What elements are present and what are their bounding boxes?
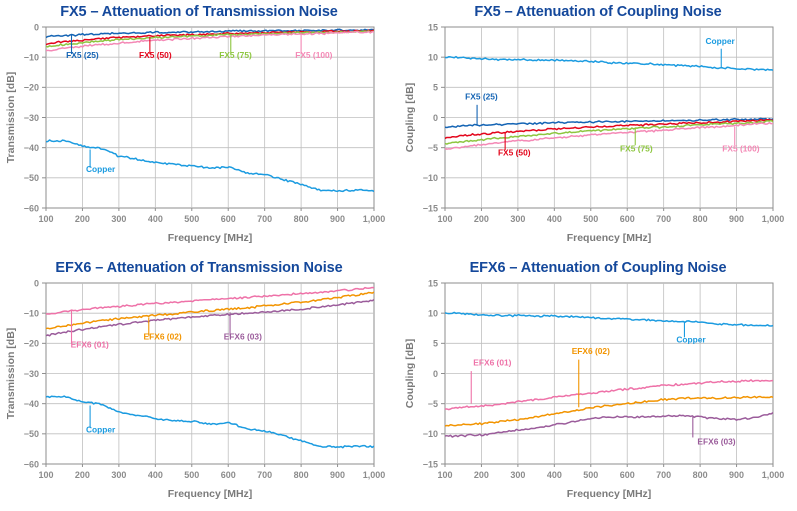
y-tick-label: −15	[423, 459, 438, 469]
x-tick-label: 200	[75, 214, 90, 224]
x-tick-label: 900	[729, 470, 744, 480]
series-label: FX5 (75)	[219, 50, 252, 60]
y-tick-label: 10	[428, 309, 438, 319]
y-axis-label: Transmission [dB]	[5, 72, 17, 164]
x-tick-label: 600	[221, 470, 236, 480]
y-axis-ticks: 0−10−20−30−40−50−60	[24, 278, 46, 469]
y-tick-label: 5	[433, 339, 438, 349]
y-tick-label: −60	[24, 459, 39, 469]
y-axis-label: Coupling [dB]	[404, 83, 416, 152]
x-tick-label: 500	[583, 470, 598, 480]
x-tick-label: 700	[257, 214, 272, 224]
y-tick-label: −20	[24, 83, 39, 93]
x-tick-label: 300	[510, 470, 525, 480]
x-axis-ticks: 1002003004005006007008009001,000	[38, 208, 385, 224]
chart-svg: 151050−5−10−1510020030040050060070080090…	[399, 0, 797, 255]
y-axis-ticks: 0−10−20−30−40−50−60	[24, 22, 46, 213]
chart-svg: 0−10−20−30−40−50−60100200300400500600700…	[0, 0, 398, 255]
chart-panel-efx6-transmission: EFX6 – Attenuation of Transmission Noise…	[0, 256, 398, 511]
x-tick-label: 200	[474, 214, 489, 224]
x-tick-label: 500	[583, 214, 598, 224]
x-tick-label: 200	[474, 470, 489, 480]
series-label: FX5 (75)	[620, 143, 653, 153]
series-label: Copper	[86, 425, 116, 435]
y-tick-label: −40	[24, 143, 39, 153]
plot-area-efx6-transmission: 0−10−20−30−40−50−60100200300400500600700…	[0, 256, 398, 511]
x-tick-label: 700	[656, 470, 671, 480]
y-tick-label: −30	[24, 369, 39, 379]
x-tick-label: 100	[437, 470, 452, 480]
x-axis-label: Frequency [MHz]	[168, 488, 253, 500]
series-label: EFX6 (01)	[473, 358, 511, 368]
series-label: FX5 (100)	[722, 143, 759, 153]
y-tick-label: −40	[24, 399, 39, 409]
y-axis-ticks: 151050−5−10−15	[423, 22, 445, 213]
plot-area-fx5-coupling: 151050−5−10−1510020030040050060070080090…	[399, 0, 797, 255]
series-label: EFX6 (03)	[224, 331, 262, 341]
y-tick-label: 0	[34, 22, 39, 32]
x-tick-label: 800	[693, 470, 708, 480]
y-tick-label: 0	[34, 278, 39, 288]
y-tick-label: −10	[423, 429, 438, 439]
chart-panel-fx5-transmission: FX5 – Attenuation of Transmission Noise …	[0, 0, 398, 255]
x-axis-label: Frequency [MHz]	[567, 488, 652, 500]
y-axis-ticks: 151050−5−10−15	[423, 278, 445, 469]
series-label: EFX6 (01)	[71, 340, 109, 350]
x-tick-label: 900	[729, 214, 744, 224]
x-tick-label: 500	[184, 214, 199, 224]
x-tick-label: 1,000	[363, 470, 386, 480]
x-axis-ticks: 1002003004005006007008009001,000	[38, 464, 385, 480]
x-tick-label: 300	[111, 214, 126, 224]
y-tick-label: −50	[24, 429, 39, 439]
y-tick-label: −60	[24, 203, 39, 213]
x-tick-label: 600	[620, 214, 635, 224]
x-tick-label: 1,000	[762, 214, 785, 224]
x-tick-label: 1,000	[762, 470, 785, 480]
x-tick-label: 800	[294, 214, 309, 224]
series-label: FX5 (50)	[139, 50, 172, 60]
x-tick-label: 100	[437, 214, 452, 224]
x-tick-label: 1,000	[363, 214, 386, 224]
y-tick-label: −50	[24, 173, 39, 183]
y-tick-label: 0	[433, 113, 438, 123]
x-axis-ticks: 1002003004005006007008009001,000	[437, 464, 784, 480]
y-tick-label: 10	[428, 53, 438, 63]
y-tick-label: −10	[24, 309, 39, 319]
x-tick-label: 200	[75, 470, 90, 480]
x-tick-label: 500	[184, 470, 199, 480]
y-tick-label: −10	[423, 173, 438, 183]
series-label: FX5 (100)	[295, 50, 332, 60]
y-tick-label: −5	[428, 399, 438, 409]
y-tick-label: −15	[423, 203, 438, 213]
x-axis-label: Frequency [MHz]	[168, 232, 253, 244]
chart-svg: 0−10−20−30−40−50−60100200300400500600700…	[0, 256, 398, 511]
x-tick-label: 400	[547, 214, 562, 224]
x-tick-label: 300	[510, 214, 525, 224]
x-tick-label: 600	[221, 214, 236, 224]
x-tick-label: 300	[111, 470, 126, 480]
x-tick-label: 800	[693, 214, 708, 224]
series-label: EFX6 (03)	[697, 437, 735, 447]
series-label: FX5 (50)	[498, 148, 531, 158]
x-tick-label: 400	[547, 470, 562, 480]
charts-grid: FX5 – Attenuation of Transmission Noise …	[0, 0, 797, 511]
series-label: FX5 (25)	[66, 50, 99, 60]
series-label: EFX6 (02)	[572, 346, 610, 356]
series-label: Copper	[86, 164, 116, 174]
x-tick-label: 700	[257, 470, 272, 480]
y-tick-label: 0	[433, 369, 438, 379]
x-tick-label: 100	[38, 214, 53, 224]
plot-area-efx6-coupling: 151050−5−10−1510020030040050060070080090…	[399, 256, 797, 511]
y-tick-label: 5	[433, 83, 438, 93]
plot-area-fx5-transmission: 0−10−20−30−40−50−60100200300400500600700…	[0, 0, 398, 255]
series-label: EFX6 (02)	[144, 331, 182, 341]
series-label: FX5 (25)	[465, 91, 498, 101]
chart-svg: 151050−5−10−1510020030040050060070080090…	[399, 256, 797, 511]
x-tick-label: 400	[148, 470, 163, 480]
x-tick-label: 800	[294, 470, 309, 480]
x-tick-label: 900	[330, 214, 345, 224]
chart-panel-fx5-coupling: FX5 – Attenuation of Coupling Noise 1510…	[399, 0, 797, 255]
y-tick-label: −30	[24, 113, 39, 123]
x-tick-label: 400	[148, 214, 163, 224]
series-label: Copper	[676, 335, 706, 345]
x-axis-ticks: 1002003004005006007008009001,000	[437, 208, 784, 224]
x-tick-label: 600	[620, 470, 635, 480]
x-tick-label: 900	[330, 470, 345, 480]
y-axis-label: Transmission [dB]	[5, 328, 17, 420]
series-label: Copper	[705, 36, 735, 46]
y-axis-label: Coupling [dB]	[404, 339, 416, 408]
y-tick-label: −20	[24, 339, 39, 349]
y-tick-label: −5	[428, 143, 438, 153]
y-tick-label: 15	[428, 278, 438, 288]
y-tick-label: 15	[428, 22, 438, 32]
chart-panel-efx6-coupling: EFX6 – Attenuation of Coupling Noise 151…	[399, 256, 797, 511]
x-axis-label: Frequency [MHz]	[567, 232, 652, 244]
y-tick-label: −10	[24, 53, 39, 63]
x-tick-label: 700	[656, 214, 671, 224]
x-tick-label: 100	[38, 470, 53, 480]
